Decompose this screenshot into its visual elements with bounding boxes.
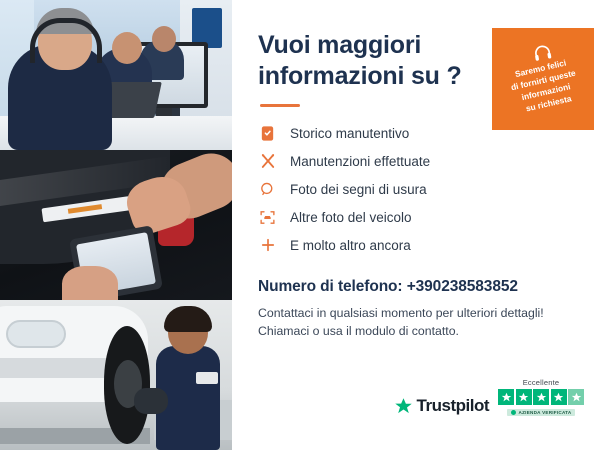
promo-banner: Vuoi maggiori informazioni su ? Storico … xyxy=(0,0,600,450)
feature-list: Storico manutentivo Manutenzioni effettu… xyxy=(258,119,578,259)
crossed-tools-icon xyxy=(258,152,277,171)
trustpilot-logo: Trustpilot xyxy=(394,396,489,416)
page-title: Vuoi maggiori informazioni su ? xyxy=(258,30,473,91)
rating-label: Eccellente xyxy=(523,378,560,387)
title-underline xyxy=(260,104,300,107)
star-5 xyxy=(568,389,584,405)
list-item-label: Manutenzioni effettuate xyxy=(290,154,430,169)
star-1 xyxy=(498,389,514,405)
call-center-agents-photo xyxy=(0,0,232,150)
plus-icon xyxy=(258,236,277,255)
list-item-label: Storico manutentivo xyxy=(290,126,409,141)
star-4 xyxy=(551,389,567,405)
trustpilot-wordmark: Trustpilot xyxy=(417,396,489,416)
verified-check-icon xyxy=(511,410,516,415)
list-item: E molto altro ancora xyxy=(258,231,578,259)
phone-number[interactable]: Numero di telefono: +390238583852 xyxy=(258,278,578,296)
mechanic-wheel-inspection-photo xyxy=(0,300,232,450)
list-item-label: Altre foto del veicolo xyxy=(290,210,412,225)
trustpilot-rating: Eccellente AZIENDA VERIFICATA xyxy=(498,378,584,416)
list-item: Manutenzioni effettuate xyxy=(258,147,578,175)
list-item: Foto dei segni di usura xyxy=(258,175,578,203)
seal-text: Saremo felici di fornirti queste informa… xyxy=(482,18,600,140)
info-on-request-seal: Saremo felici di fornirti queste informa… xyxy=(492,28,594,130)
star-rating xyxy=(498,389,584,405)
contact-line-1: Contattaci in qualsiasi momento per ulte… xyxy=(258,304,578,322)
vehicle-inspection-ruler-photo xyxy=(0,150,232,300)
photo-column xyxy=(0,0,232,450)
verified-label: AZIENDA VERIFICATA xyxy=(519,410,572,415)
verified-company-badge: AZIENDA VERIFICATA xyxy=(507,409,576,416)
list-item: Altre foto del veicolo xyxy=(258,203,578,231)
star-3 xyxy=(533,389,549,405)
list-item-label: Foto dei segni di usura xyxy=(290,182,427,197)
contact-line-2: Chiamaci o usa il modulo di contatto. xyxy=(258,322,578,340)
contact-text: Contattaci in qualsiasi momento per ulte… xyxy=(258,304,578,341)
magnifier-icon xyxy=(258,180,277,199)
trustpilot-star-icon xyxy=(394,397,413,416)
scan-car-icon xyxy=(258,208,277,227)
clipboard-check-icon xyxy=(258,124,277,143)
trustpilot-widget[interactable]: Trustpilot Eccellente AZIENDA VERIFICATA xyxy=(394,378,584,416)
list-item-label: E molto altro ancora xyxy=(290,238,411,253)
content-panel: Vuoi maggiori informazioni su ? Storico … xyxy=(232,0,600,450)
star-2 xyxy=(516,389,532,405)
